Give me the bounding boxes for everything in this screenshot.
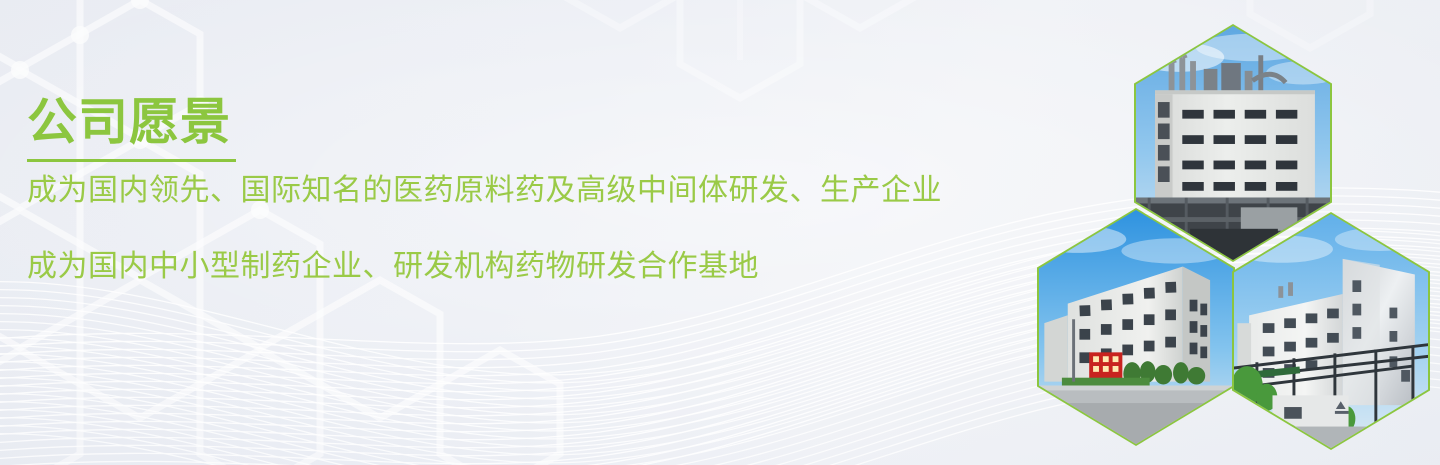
vision-statement-line-1: 成为国内领先、国际知名的医药原料药及高级中间体研发、生产企业 [27,171,1037,211]
hex-photo-inner [1039,210,1233,444]
title-underline-rule [27,159,236,162]
hex-photo-inner [1136,26,1330,260]
hex-photo-production-building-pipe-rack [1232,212,1430,450]
company-vision-banner: 公司愿景 成为国内领先、国际知名的医药原料药及高级中间体研发、生产企业 成为国内… [0,0,1440,465]
vision-text-block: 公司愿景 成为国内领先、国际知名的医药原料药及高级中间体研发、生产企业 成为国内… [27,96,1037,287]
page-title: 公司愿景 [27,96,1037,149]
vision-statement-line-2: 成为国内中小型制药企业、研发机构药物研发合作基地 [27,247,1037,287]
hex-photo-inner [1234,214,1428,448]
